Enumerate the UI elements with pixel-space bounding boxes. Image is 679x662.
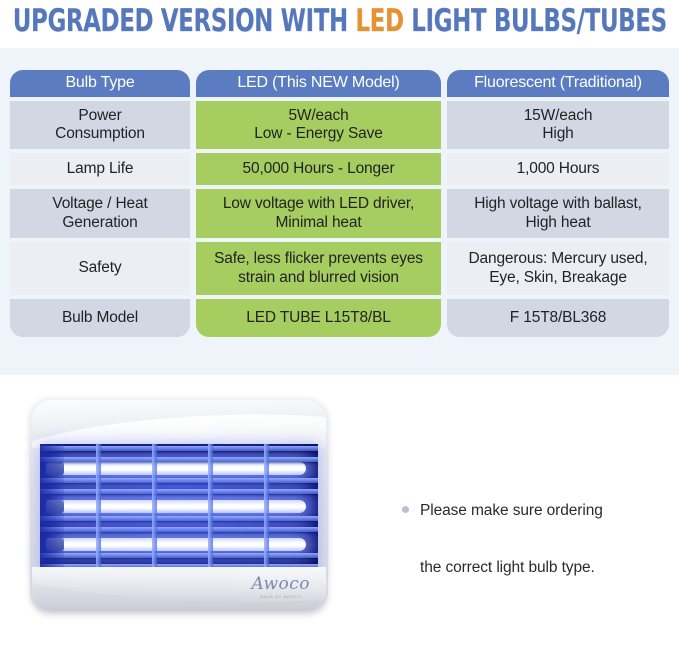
device-base: Awoco MADE BY AWOCO (32, 567, 326, 611)
row-fluorescent-power-consumption: 15W/each High (447, 101, 669, 149)
table-row: Bulb Model LED TUBE L15T8/BL F 15T8/BL36… (10, 299, 669, 337)
row-fluorescent-voltage-heat: High voltage with ballast, High heat (447, 189, 669, 238)
grid-bar (40, 516, 318, 521)
side-louvers (40, 444, 64, 571)
list-item: Please make sure ordering the correct li… (402, 497, 664, 583)
cell-line: 5W/each (288, 107, 348, 125)
row-led-voltage-heat: Low voltage with LED driver, Minimal hea… (196, 189, 441, 238)
cell-line: Lamp Life (67, 160, 134, 178)
product-infographic-page: UPGRADED VERSION WITH LED LIGHT BULBS/TU… (0, 0, 679, 662)
bug-zapper-product-image: Awoco MADE BY AWOCO (30, 398, 328, 613)
cell-line: Consumption (55, 125, 145, 143)
grid-bar (40, 478, 318, 483)
cell-line: Low - Energy Save (254, 125, 382, 143)
cell-line: F 15T8/BL368 (510, 309, 606, 327)
brand-name: Awoco (251, 576, 310, 593)
device-top-hood (32, 400, 326, 448)
cell-line: Power (78, 107, 121, 125)
cell-line: High (542, 125, 573, 143)
cell-line: 15W/each (524, 107, 593, 125)
cell-line: 50,000 Hours - Longer (243, 160, 395, 178)
title-banner: UPGRADED VERSION WITH LED LIGHT BULBS/TU… (0, 0, 679, 42)
grid-bar (40, 527, 318, 532)
page-title-highlight: LED (355, 3, 403, 39)
cell-line: High voltage with ballast, (474, 195, 642, 213)
grid-bar (40, 489, 318, 494)
row-feature-safety: Safety (10, 242, 190, 295)
page-title: UPGRADED VERSION WITH LED LIGHT BULBS/TU… (13, 3, 667, 39)
grid-bar (40, 457, 318, 462)
row-feature-power-consumption: Power Consumption (10, 101, 190, 149)
cell-line: Safe, less flicker prevents eyes (214, 250, 423, 268)
table-row: Voltage / Heat Generation Low voltage wi… (10, 189, 669, 238)
cell-line: Safety (78, 259, 121, 277)
brand-tagline: MADE BY AWOCO (251, 595, 310, 599)
comparison-table: Bulb Type LED (This NEW Model) Fluoresce… (10, 70, 669, 337)
cell-line: LED TUBE L15T8/BL (246, 309, 391, 327)
cell-line: Bulb Model (62, 309, 138, 327)
table-row: Lamp Life 50,000 Hours - Longer 1,000 Ho… (10, 153, 669, 185)
cell-line: 1,000 Hours (517, 160, 600, 178)
grid-bar (40, 446, 318, 451)
cell-line: Generation (62, 214, 137, 232)
row-led-bulb-model: LED TUBE L15T8/BL (196, 299, 441, 337)
grid-bar (40, 553, 318, 558)
note-line: Please make sure ordering (420, 497, 603, 526)
table-header-row: Bulb Type LED (This NEW Model) Fluoresce… (10, 70, 669, 97)
row-fluorescent-lamp-life: 1,000 Hours (447, 153, 669, 185)
cell-line: Minimal heat (275, 214, 361, 232)
row-fluorescent-safety: Dangerous: Mercury used, Eye, Skin, Brea… (447, 242, 669, 295)
note-line: the correct light bulb type. (420, 554, 603, 583)
cell-line: Eye, Skin, Breakage (489, 269, 627, 287)
cell-line: strain and blurred vision (238, 269, 399, 287)
grid-post (208, 444, 213, 571)
note-text: Please make sure ordering the correct li… (420, 497, 603, 583)
product-photo-area: Awoco MADE BY AWOCO Please make sure ord… (0, 375, 679, 662)
cell-line: Dangerous: Mercury used, (468, 250, 647, 268)
table-header-bulb-type: Bulb Type (10, 70, 190, 97)
uv-lamp-window (40, 444, 318, 571)
cell-line: High heat (525, 214, 590, 232)
page-title-prefix: UPGRADED VERSION WITH (13, 3, 356, 39)
cell-line: Low voltage with LED driver, (223, 195, 414, 213)
row-feature-lamp-life: Lamp Life (10, 153, 190, 185)
comparison-table-panel: Bulb Type LED (This NEW Model) Fluoresce… (0, 48, 679, 375)
grid-post (264, 444, 269, 571)
table-row: Safety Safe, less flicker prevents eyes … (10, 242, 669, 295)
table-header-fluorescent: Fluorescent (Traditional) (447, 70, 669, 97)
table-row: Power Consumption 5W/each Low - Energy S… (10, 101, 669, 149)
grid-post (96, 444, 101, 571)
grid-post (152, 444, 157, 571)
row-feature-bulb-model: Bulb Model (10, 299, 190, 337)
page-title-suffix: LIGHT BULBS/TUBES (403, 3, 666, 39)
row-led-safety: Safe, less flicker prevents eyes strain … (196, 242, 441, 295)
brand-logo: Awoco MADE BY AWOCO (251, 576, 310, 599)
bullet-point-icon (402, 506, 409, 513)
cell-line: Voltage / Heat (52, 195, 147, 213)
row-led-power-consumption: 5W/each Low - Energy Save (196, 101, 441, 149)
note-block: Please make sure ordering the correct li… (402, 497, 664, 583)
row-fluorescent-bulb-model: F 15T8/BL368 (447, 299, 669, 337)
row-led-lamp-life: 50,000 Hours - Longer (196, 153, 441, 185)
row-feature-voltage-heat: Voltage / Heat Generation (10, 189, 190, 238)
table-header-led: LED (This NEW Model) (196, 70, 441, 97)
